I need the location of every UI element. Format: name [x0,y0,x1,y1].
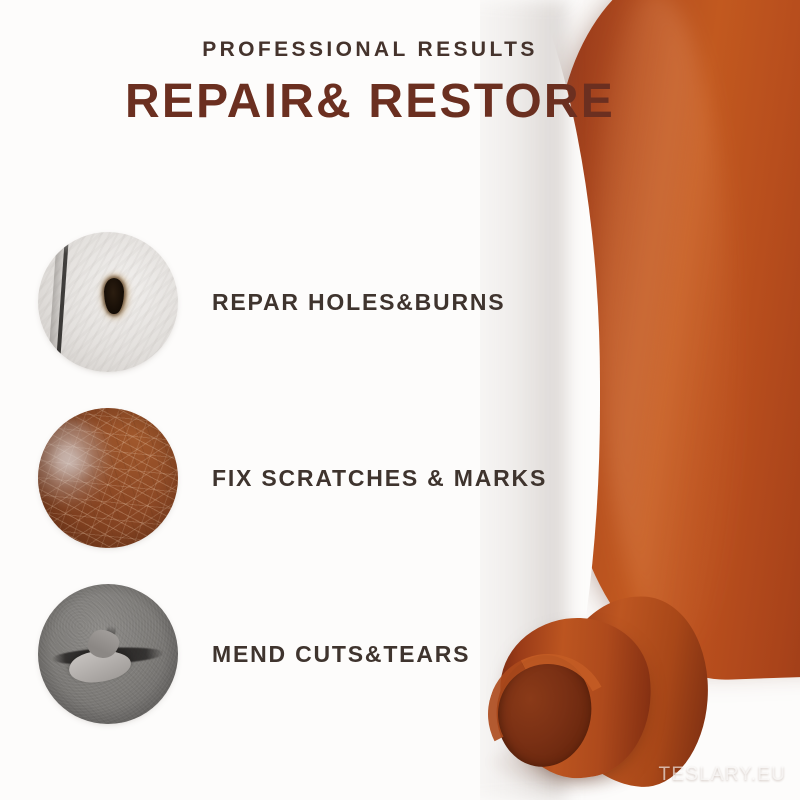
eyebrow-text: PROFESSIONAL RESULTS [0,38,740,62]
photo-vignette [38,408,178,548]
feature-label: FIX SCRATCHES & MARKS [212,465,547,492]
feature-list: REPAR HOLES&BURNS FIX SCRATCHES & MARKS [38,214,638,742]
burn-hole [104,278,124,314]
watermark: TESLARY.EU [659,764,786,786]
leather-cut-tear-photo [38,584,178,724]
poster-header: PROFESSIONAL RESULTS REPAIR& RESTORE [0,38,740,129]
promo-poster: PROFESSIONAL RESULTS REPAIR& RESTORE REP… [0,0,800,800]
page-title: REPAIR& RESTORE [0,74,740,129]
list-item: FIX SCRATCHES & MARKS [38,390,638,566]
leather-burn-hole-photo [38,232,178,372]
photo-vignette [38,584,178,724]
feature-label: MEND CUTS&TEARS [212,641,470,668]
list-item: REPAR HOLES&BURNS [38,214,638,390]
leather-scratches-photo [38,408,178,548]
feature-label: REPAR HOLES&BURNS [212,289,505,316]
list-item: MEND CUTS&TEARS [38,566,638,742]
